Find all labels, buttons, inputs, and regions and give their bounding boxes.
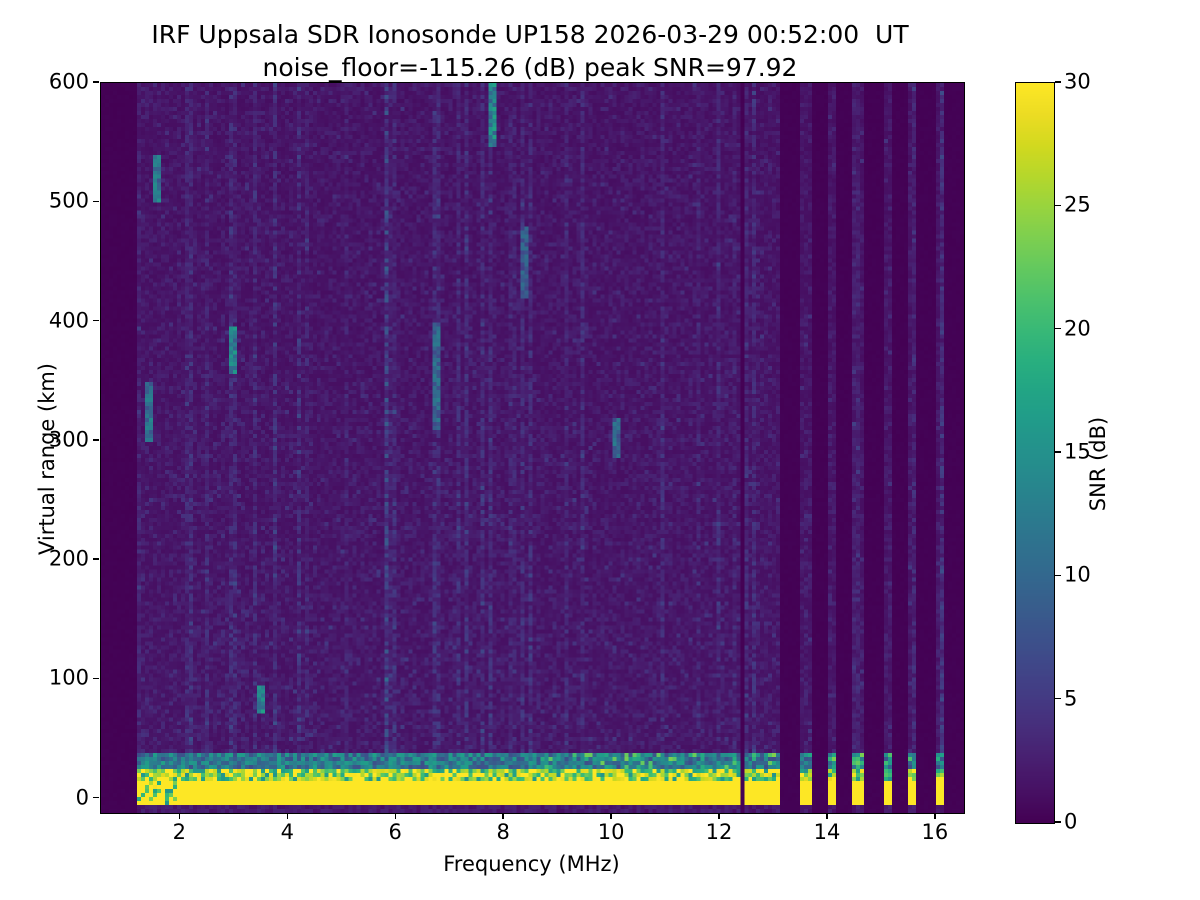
colorbar-tick-mark	[1055, 205, 1061, 206]
colorbar-tick-label: 25	[1064, 195, 1091, 216]
ionogram-heatmap-canvas	[101, 83, 964, 813]
title-line-1: IRF Uppsala SDR Ionosonde UP158 2026-03-…	[151, 20, 908, 49]
y-tick-mark	[93, 81, 99, 82]
ionogram-figure: IRF Uppsala SDR Ionosonde UP158 2026-03-…	[0, 0, 1200, 900]
y-tick-mark	[93, 558, 99, 559]
title-line-2: noise_floor=-115.26 (dB) peak SNR=97.92	[263, 53, 798, 82]
colorbar-tick-mark	[1055, 81, 1061, 82]
colorbar-tick-label: 0	[1064, 812, 1077, 833]
figure-title: IRF Uppsala SDR Ionosonde UP158 2026-03-…	[0, 18, 1060, 84]
colorbar-label: SNR (dB)	[1086, 254, 1110, 674]
x-tick-label: 16	[922, 822, 949, 843]
x-tick-mark	[826, 813, 827, 819]
colorbar-tick-label: 5	[1064, 688, 1077, 709]
x-tick-label: 12	[706, 822, 733, 843]
colorbar-tick-mark	[1055, 698, 1061, 699]
colorbar-tick-mark	[1055, 328, 1061, 329]
x-tick-label: 8	[496, 822, 509, 843]
x-tick-mark	[395, 813, 396, 819]
x-tick-mark	[179, 813, 180, 819]
x-tick-mark	[610, 813, 611, 819]
x-axis-label: Frequency (MHz)	[100, 852, 963, 876]
y-axis-label: Virtual range (km)	[35, 179, 59, 739]
x-tick-mark	[287, 813, 288, 819]
colorbar-tick-label: 30	[1064, 72, 1091, 93]
x-tick-label: 14	[814, 822, 841, 843]
x-tick-label: 6	[389, 822, 402, 843]
y-tick-label: 600	[49, 72, 89, 93]
colorbar-gradient	[1016, 83, 1054, 823]
colorbar-tick-mark	[1055, 821, 1061, 822]
x-tick-label: 10	[598, 822, 625, 843]
colorbar-tick-mark	[1055, 575, 1061, 576]
x-tick-mark	[934, 813, 935, 819]
y-tick-mark	[93, 201, 99, 202]
x-tick-label: 2	[173, 822, 186, 843]
x-tick-mark	[718, 813, 719, 819]
y-tick-mark	[93, 439, 99, 440]
ionogram-heatmap-axes[interactable]	[100, 82, 965, 814]
y-tick-mark	[93, 678, 99, 679]
colorbar-tick-mark	[1055, 451, 1061, 452]
x-tick-label: 4	[281, 822, 294, 843]
y-tick-label: 0	[76, 787, 89, 808]
x-tick-mark	[502, 813, 503, 819]
y-tick-mark	[93, 320, 99, 321]
colorbar[interactable]	[1015, 82, 1055, 824]
y-tick-mark	[93, 797, 99, 798]
